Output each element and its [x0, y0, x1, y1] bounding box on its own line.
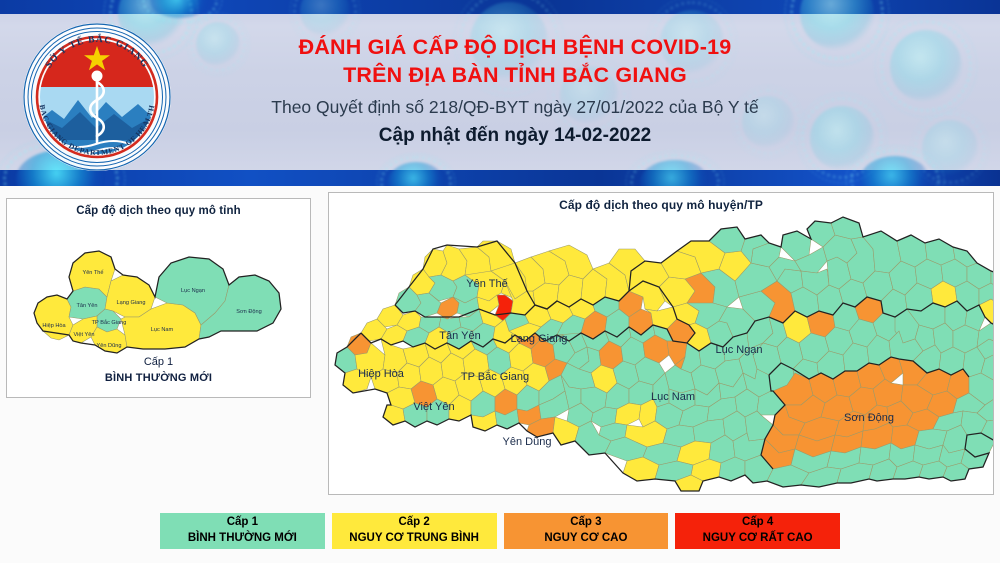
screenshot-root: SỞ Y TẾ BẮC GIANG BAC GIANG DEPARTMENT O…: [0, 0, 1000, 563]
province-scale-panel: Cấp độ dịch theo quy mô tỉnh: [6, 198, 311, 398]
page-title-line1: ĐÁNH GIÁ CẤP ĐỘ DỊCH BỆNH COVID-19: [195, 34, 835, 62]
province-scale-map: Hiệp Hòa Tân Yên Yên Thế Lạng Giang TP B…: [7, 219, 310, 359]
bac-giang-health-department-logo: SỞ Y TẾ BẮC GIANG BAC GIANG DEPARTMENT O…: [22, 22, 172, 172]
legend-item-level-3[interactable]: Cấp 3 NGUY CƠ CAO: [504, 513, 669, 549]
virus-decoration-icon: [388, 162, 444, 186]
province-level-note: Cấp 1 BÌNH THƯỜNG MỚI: [7, 355, 310, 387]
label-son-dong: Sơn Động: [236, 309, 261, 315]
page-updated-date: Cập nhật đến ngày 14-02-2022: [195, 122, 835, 151]
label-tp-bac-giang: TP Bắc Giang: [92, 319, 127, 326]
virus-decoration-icon: [300, 0, 350, 36]
label-tan-yen: Tân Yên: [439, 330, 480, 342]
risk-level-legend: Cấp 1 BÌNH THƯỜNG MỚI Cấp 2 NGUY CƠ TRUN…: [160, 513, 840, 549]
legend-level-1-value: Cấp 1: [227, 515, 258, 531]
label-tp-bac-giang: TP Bắc Giang: [461, 370, 529, 383]
label-luc-ngan: Lục Ngạn: [715, 344, 762, 356]
label-yen-the: Yên Thế: [82, 270, 104, 276]
virus-decoration-icon: [860, 156, 930, 186]
legend-level-3-value: Cấp 3: [570, 515, 601, 531]
body-area: Cấp độ dịch theo quy mô tỉnh: [0, 186, 1000, 563]
district-panel-title: Cấp độ dịch theo quy mô huyện/TP: [329, 193, 993, 212]
label-viet-yen: Việt Yên: [74, 332, 95, 338]
legend-level-4-value: Cấp 4: [742, 515, 773, 531]
virus-decoration-icon: [640, 160, 710, 186]
label-luc-ngan: Lục Ngạn: [181, 288, 205, 294]
label-hiep-hoa: Hiệp Hòa: [42, 323, 66, 329]
label-lang-giang: Lạng Giang: [117, 300, 146, 306]
legend-level-3-desc: NGUY CƠ CAO: [544, 531, 627, 547]
virus-decoration-icon: [890, 30, 962, 102]
label-yen-dung: Yên Dũng: [97, 343, 122, 349]
label-tan-yen: Tân Yên: [76, 303, 97, 309]
legend-level-2-desc: NGUY CƠ TRUNG BÌNH: [349, 531, 479, 547]
legend-level-1-desc: BÌNH THƯỜNG MỚI: [188, 531, 297, 547]
province-panel-title: Cấp độ dịch theo quy mô tỉnh: [7, 199, 310, 217]
legend-item-level-2[interactable]: Cấp 2 NGUY CƠ TRUNG BÌNH: [332, 513, 497, 549]
page-subtitle-decree: Theo Quyết định số 218/QĐ-BYT ngày 27/01…: [195, 94, 835, 121]
legend-level-4-desc: NGUY CƠ RẤT CAO: [703, 531, 813, 547]
district-scale-map: Yên Thế Tân Yên Lạng Giang Hiệp Hòa TP B…: [329, 213, 993, 495]
legend-level-2-value: Cấp 2: [398, 515, 429, 531]
label-luc-nam: Lục Nam: [151, 327, 174, 333]
legend-item-level-1[interactable]: Cấp 1 BÌNH THƯỜNG MỚI: [160, 513, 325, 549]
label-yen-the: Yên Thế: [466, 278, 507, 290]
header-title-block: ĐÁNH GIÁ CẤP ĐỘ DỊCH BỆNH COVID-19 TRÊN …: [195, 34, 835, 151]
commune-polygons: [335, 217, 993, 491]
label-hiep-hoa: Hiệp Hòa: [358, 368, 405, 380]
label-yen-dung: Yên Dũng: [503, 436, 552, 448]
page-header: SỞ Y TẾ BẮC GIANG BAC GIANG DEPARTMENT O…: [0, 0, 1000, 186]
province-level-value: Cấp 1: [7, 355, 310, 371]
page-title-line2: TRÊN ĐỊA BÀN TỈNH BẮC GIANG: [195, 62, 835, 90]
logo-emblem-icon: SỞ Y TẾ BẮC GIANG BAC GIANG DEPARTMENT O…: [22, 22, 172, 172]
district-scale-panel: Cấp độ dịch theo quy mô huyện/TP: [328, 192, 994, 495]
legend-item-level-4[interactable]: Cấp 4 NGUY CƠ RẤT CAO: [675, 513, 840, 549]
label-luc-nam: Lục Nam: [651, 391, 695, 403]
label-lang-giang: Lạng Giang: [511, 333, 568, 345]
virus-decoration-icon: [150, 0, 210, 18]
province-level-label: BÌNH THƯỜNG MỚI: [7, 371, 310, 387]
label-son-dong: Sơn Động: [844, 412, 894, 424]
label-viet-yen: Việt Yên: [413, 401, 454, 413]
